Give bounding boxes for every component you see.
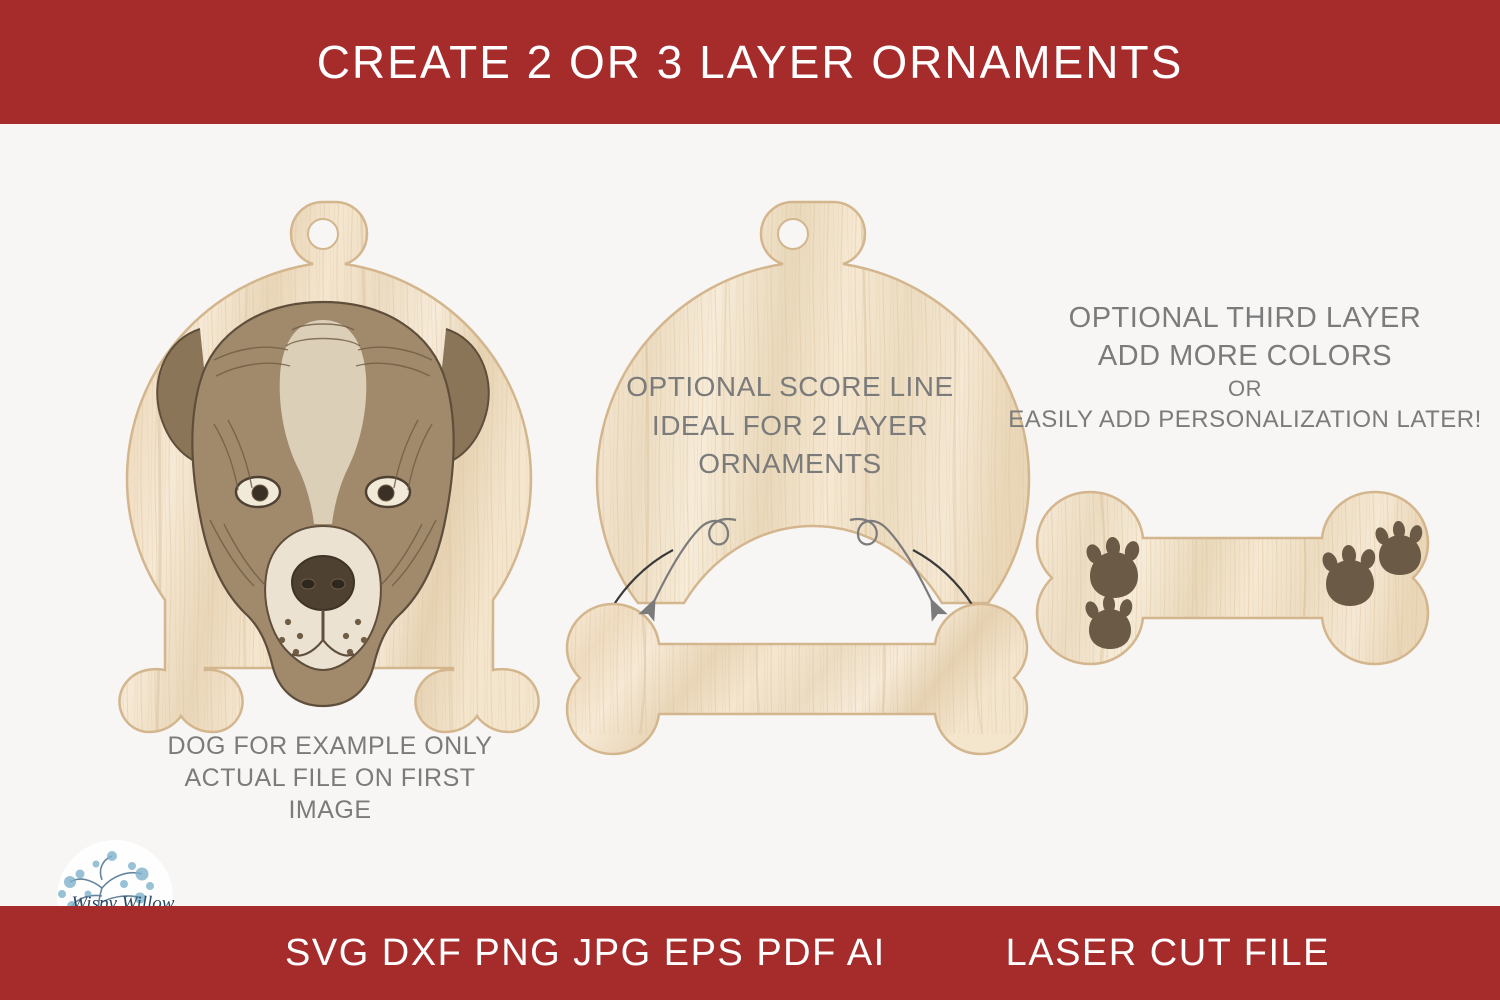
right-caption-line1: OPTIONAL THIRD LAYER (1000, 300, 1490, 338)
right-bone-ornament (1030, 484, 1480, 674)
file-type-label: LASER CUT FILE (1006, 932, 1330, 975)
middle-caption-line1: OPTIONAL SCORE LINE (600, 368, 980, 407)
poster-title: CREATE 2 OR 3 LAYER ORNAMENTS (317, 35, 1184, 89)
left-caption-line2: ACTUAL FILE ON FIRST IMAGE (140, 762, 520, 826)
poster-canvas: CREATE 2 OR 3 LAYER ORNAMENTS (0, 0, 1500, 1000)
middle-caption-line2: IDEAL FOR 2 LAYER (600, 407, 980, 446)
left-panel-caption: DOG FOR EXAMPLE ONLY ACTUAL FILE ON FIRS… (140, 730, 520, 826)
bottom-banner: SVG DXF PNG JPG EPS PDF AI LASER CUT FIL… (0, 906, 1500, 1000)
left-caption-line1: DOG FOR EXAMPLE ONLY (140, 730, 520, 762)
right-caption-line2: ADD MORE COLORS (1000, 338, 1490, 376)
top-banner: CREATE 2 OR 3 LAYER ORNAMENTS (0, 0, 1500, 124)
right-caption-line4: EASILY ADD PERSONALIZATION LATER! (1000, 404, 1490, 435)
middle-panel-caption: OPTIONAL SCORE LINE IDEAL FOR 2 LAYER OR… (600, 368, 980, 484)
file-formats-label: SVG DXF PNG JPG EPS PDF AI (285, 932, 886, 975)
right-caption-line3: OR (1000, 375, 1490, 404)
right-panel-caption: OPTIONAL THIRD LAYER ADD MORE COLORS OR … (1000, 300, 1490, 435)
middle-caption-line3: ORNAMENTS (600, 445, 980, 484)
